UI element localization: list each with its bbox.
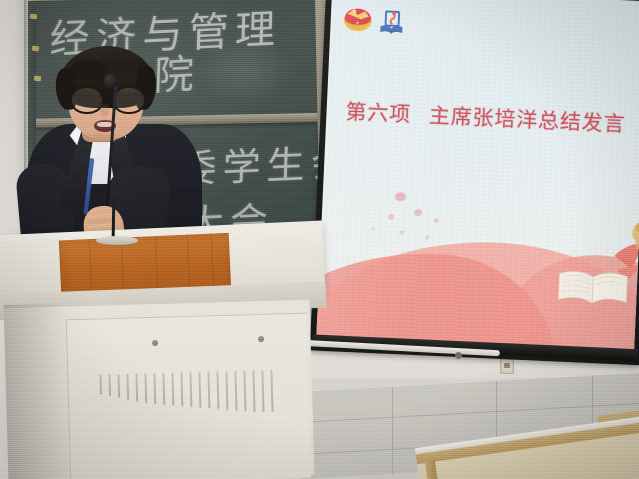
speaker-chin-shadow (80, 132, 124, 144)
speaker-nose (100, 102, 109, 116)
microphone-base[interactable] (96, 236, 138, 245)
lectern-screw-1 (152, 340, 158, 346)
glasses-lens-right (112, 86, 146, 114)
glasses-temple (64, 93, 72, 96)
glasses-bridge (100, 95, 112, 97)
screen-roller-knob[interactable] (455, 352, 462, 359)
lectern-vent-grille (99, 369, 280, 416)
classroom-photo-scene: 经济与管理 学 院 届团委学生会 全体大会 (0, 0, 639, 479)
screen-glare (316, 0, 496, 353)
projection-screen-surface: ★ 第六项主席张培洋总结发言 (316, 0, 639, 353)
slide-title-item-number: 第六项 (345, 100, 412, 127)
projection-screen: ★ 第六项主席张培洋总结发言 (310, 0, 639, 365)
glasses-lens-left (70, 86, 104, 114)
finger-1 (87, 213, 114, 224)
board-clip-1 (30, 14, 38, 20)
wall-outlet-1[interactable] (500, 358, 514, 374)
lectern-body-shadow (4, 303, 71, 479)
lectern-screw-2 (258, 336, 264, 342)
